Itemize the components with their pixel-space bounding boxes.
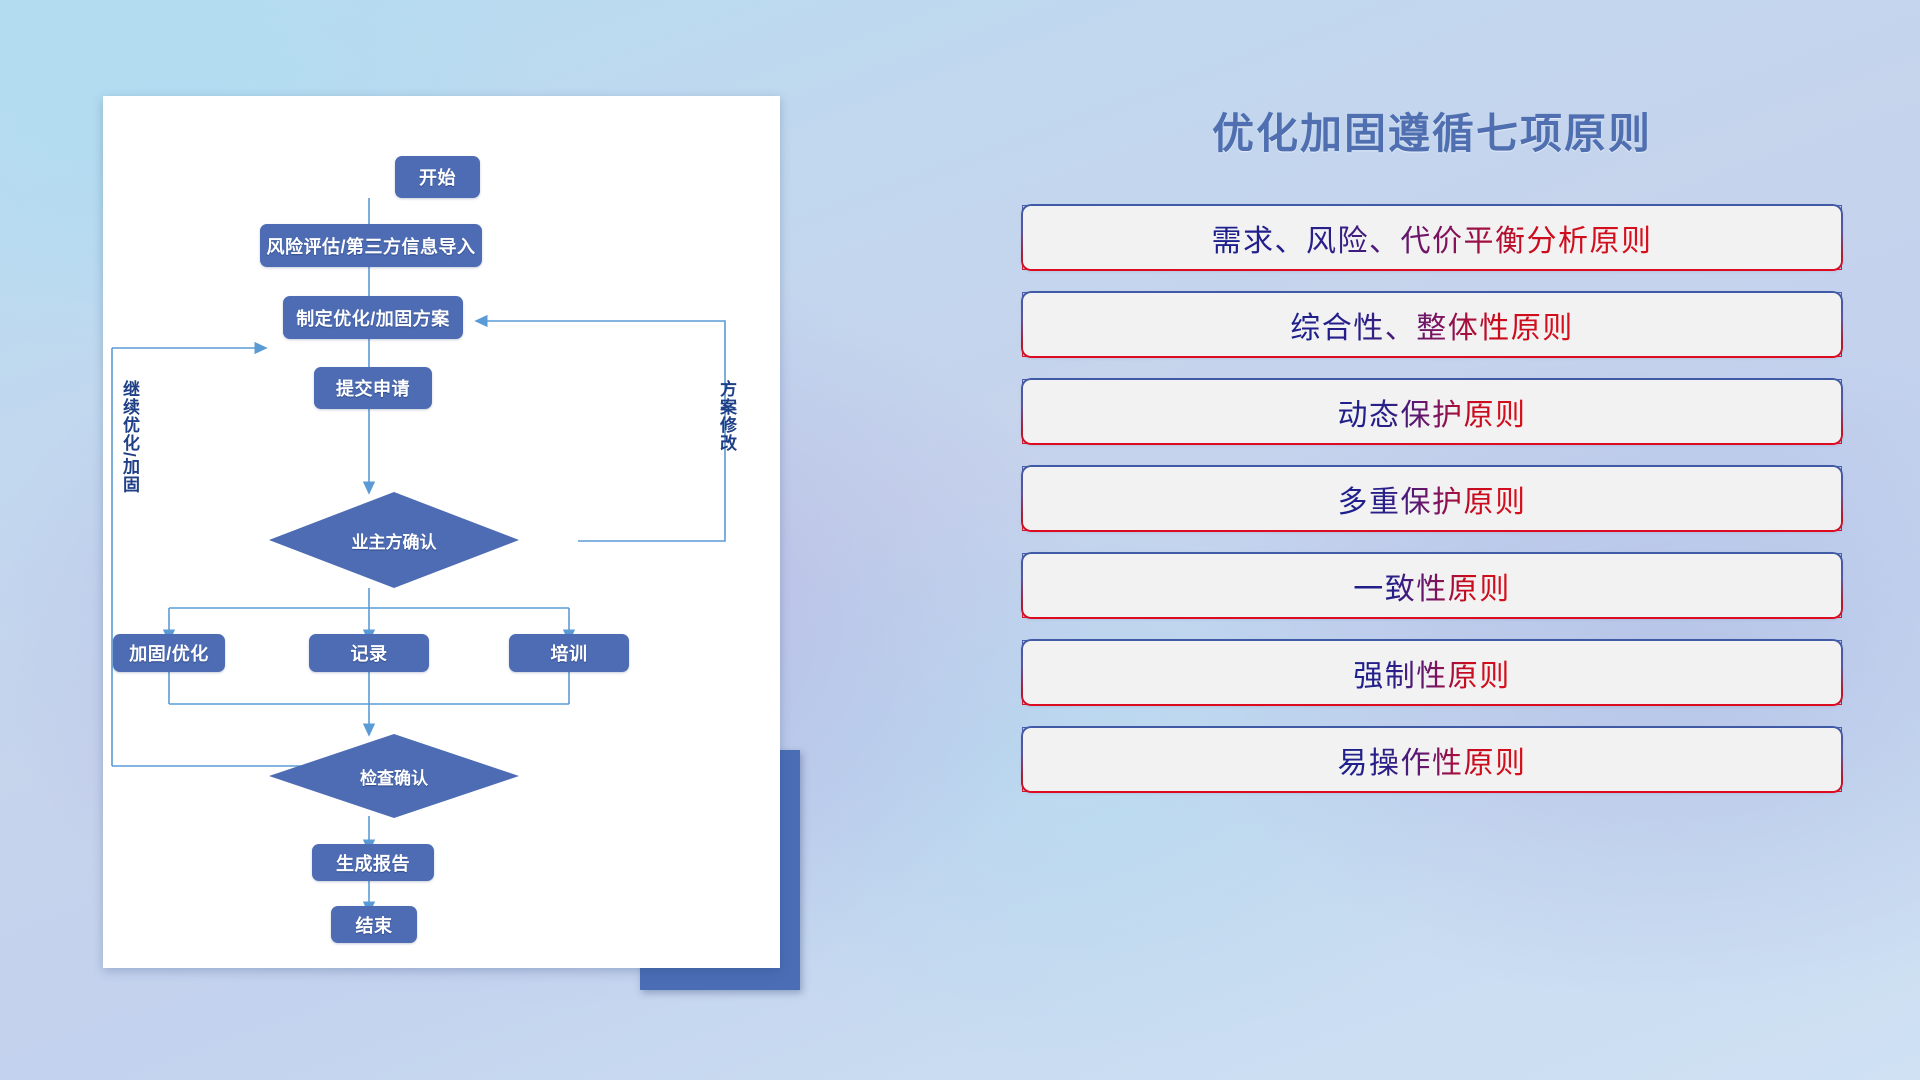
flow-node-plan-label: 制定优化/加固方案 [296,305,450,331]
flow-node-record[interactable]: 记录 [309,634,429,672]
principle-item-label: 强制性原则 [1353,651,1511,695]
flow-decision-owner-confirm[interactable]: 业主方确认 [269,492,519,588]
flow-node-start[interactable]: 开始 [395,156,480,198]
flow-node-record-label: 记录 [351,640,388,666]
slide-root: 开始 风险评估/第三方信息导入 制定优化/加固方案 提交申请 业主方确认 加固/… [0,0,1920,1080]
flow-decision-inspection-confirm[interactable]: 检查确认 [269,734,519,818]
principle-item[interactable]: 需求、风险、代价平衡分析原则 [1022,205,1842,270]
principle-item[interactable]: 易操作性原则 [1022,727,1842,792]
flow-node-plan[interactable]: 制定优化/加固方案 [283,296,463,339]
principle-item[interactable]: 一致性原则 [1022,553,1842,618]
panel-title: 优化加固遵循七项原则 [1022,100,1842,161]
principle-item[interactable]: 强制性原则 [1022,640,1842,705]
principle-item[interactable]: 综合性、整体性原则 [1022,292,1842,357]
principle-item[interactable]: 动态保护原则 [1022,379,1842,444]
principle-item-label: 需求、风险、代价平衡分析原则 [1212,216,1653,260]
flow-node-start-label: 开始 [419,164,456,190]
flow-node-end[interactable]: 结束 [331,906,417,943]
flow-node-submit-application-label: 提交申请 [336,375,410,401]
principle-item-label: 综合性、整体性原则 [1290,303,1574,347]
flow-node-reinforce-label: 加固/优化 [129,640,209,666]
principle-item-label: 多重保护原则 [1338,477,1527,521]
principle-item[interactable]: 多重保护原则 [1022,466,1842,531]
flow-node-risk-assessment-label: 风险评估/第三方信息导入 [267,233,476,259]
flow-node-submit-application[interactable]: 提交申请 [314,367,432,409]
principles-panel: 优化加固遵循七项原则 需求、风险、代价平衡分析原则 综合性、整体性原则 动态保护… [1022,100,1842,814]
flow-node-training-label: 培训 [551,640,588,666]
flow-node-reinforce[interactable]: 加固/优化 [113,634,225,672]
flow-node-training[interactable]: 培训 [509,634,629,672]
flowchart-card: 开始 风险评估/第三方信息导入 制定优化/加固方案 提交申请 业主方确认 加固/… [103,96,780,968]
flow-decision-inspection-confirm-label: 检查确认 [360,764,428,789]
flow-node-generate-report[interactable]: 生成报告 [312,844,434,881]
principle-item-label: 动态保护原则 [1338,390,1527,434]
flow-node-risk-assessment[interactable]: 风险评估/第三方信息导入 [260,224,482,267]
flow-decision-owner-confirm-label: 业主方确认 [352,528,437,553]
flow-edge-label-plan-revision: 方案修改 [714,380,739,452]
flow-node-end-label: 结束 [356,912,393,938]
flow-node-generate-report-label: 生成报告 [336,850,410,876]
principle-item-label: 一致性原则 [1353,564,1511,608]
principle-item-label: 易操作性原则 [1338,738,1527,782]
flow-edge-label-continue-optimize: 继续优化/加固 [117,380,142,494]
